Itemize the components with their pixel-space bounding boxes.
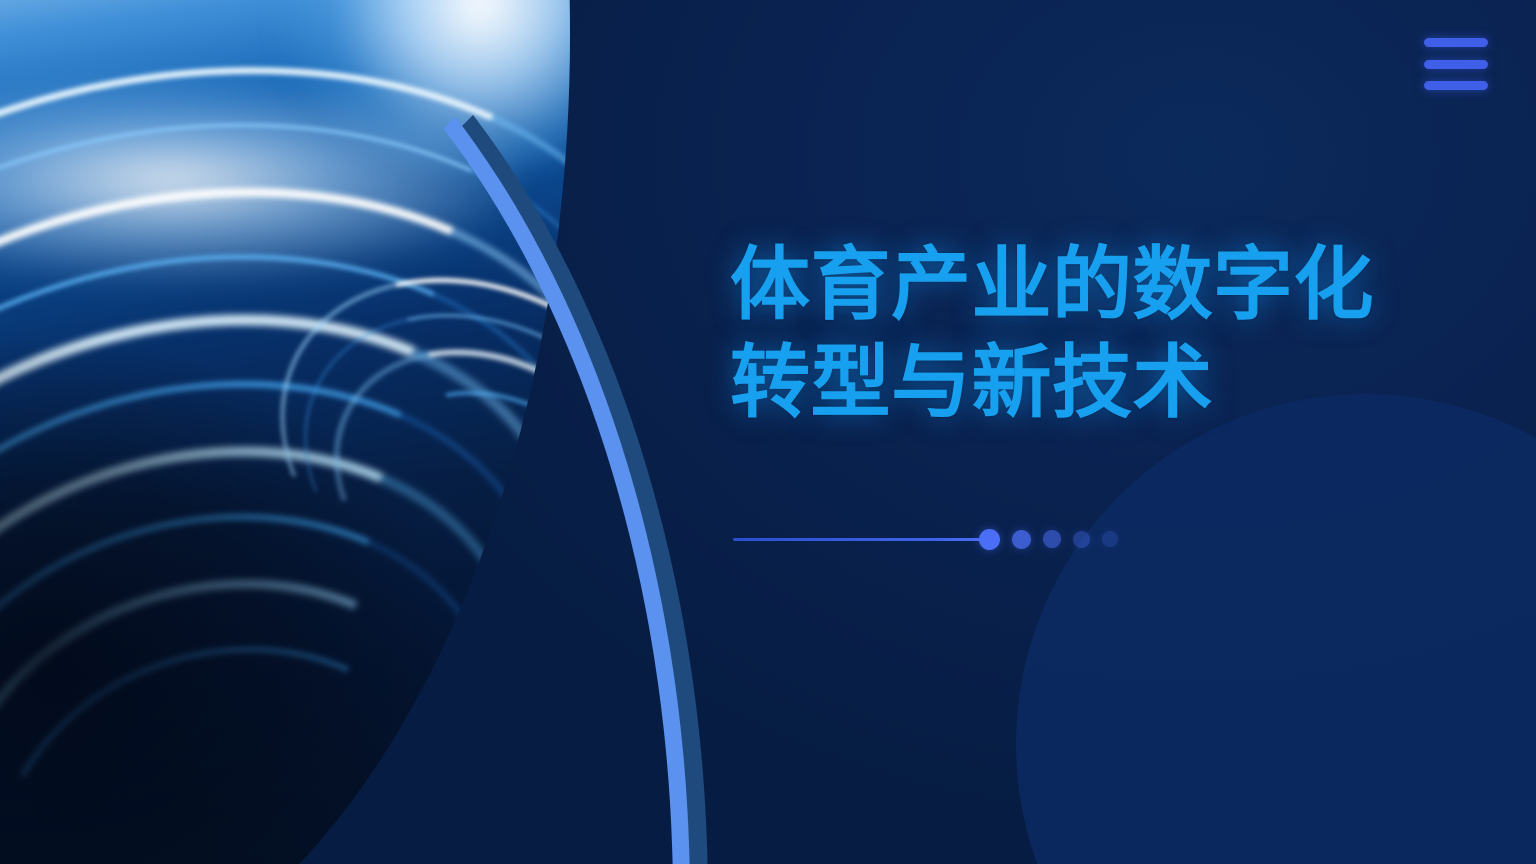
abstract-ripple-artwork [0,0,660,864]
title-line-2: 转型与新技术 [730,334,1430,432]
menu-bar-middle [1424,60,1488,69]
hero-image-panel [0,0,660,864]
menu-bar-bottom [1424,81,1488,90]
divider-rule [733,538,981,541]
title-slide: 体育产业的数字化 转型与新技术 [0,0,1536,864]
divider-dot-2 [1012,530,1031,549]
divider-dot-1 [979,529,1000,550]
menu-bar-top [1424,38,1488,47]
corner-circle-decoration [1016,394,1536,864]
title-line-1: 体育产业的数字化 [730,236,1430,334]
divider-dot-4 [1073,531,1090,548]
divider-dot-3 [1043,530,1061,548]
divider-decoration [733,528,1118,550]
hamburger-menu-icon[interactable] [1424,34,1496,94]
vignette-overlay [0,0,660,864]
page-title: 体育产业的数字化 转型与新技术 [730,236,1430,431]
divider-dot-5 [1102,531,1118,547]
